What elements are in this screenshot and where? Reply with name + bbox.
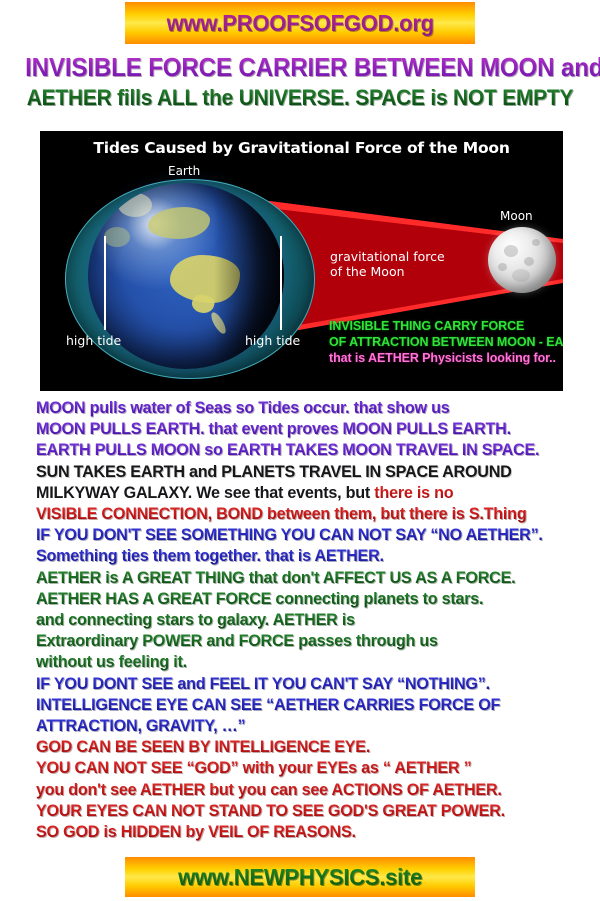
body-line: AETHER HAS A GREAT FORCE connecting plan…: [36, 589, 595, 610]
body-line: VISIBLE CONNECTION, BOND between them, b…: [36, 504, 595, 525]
tide-pointer-left: [104, 236, 106, 330]
body-line: you don't see AETHER but you can see ACT…: [36, 780, 595, 801]
moon-crater-icon: [532, 239, 540, 246]
high-tide-label-right: high tide: [245, 333, 300, 348]
moon-globe: [488, 227, 556, 293]
gravitational-force-label-line1: gravitational force: [330, 249, 470, 264]
overlay-line-3: that is AETHER Physicists looking for..: [329, 350, 563, 366]
tide-pointer-right: [280, 236, 282, 330]
moon-label: Moon: [500, 209, 533, 223]
landmass-europe: [104, 227, 130, 247]
moon-crater-icon: [498, 263, 507, 271]
body-line: SUN TAKES EARTH and PLANETS TRAVEL IN SP…: [36, 462, 595, 483]
body-line: YOU CAN NOT SEE “GOD” with your EYEs as …: [36, 758, 595, 779]
moon-crater-icon: [512, 269, 530, 282]
body-line: YOUR EYES CAN NOT STAND TO SEE GOD'S GRE…: [36, 801, 595, 822]
headline-main-title: INVISIBLE FORCE CARRIER BETWEEN MOON and…: [25, 52, 600, 83]
body-line-segment-red: there is no: [374, 484, 453, 502]
body-line: INTELLIGENCE EYE CAN SEE “AETHER CARRIES…: [36, 695, 595, 716]
body-line: MOON PULLS EARTH. that event proves MOON…: [36, 419, 595, 440]
body-line: IF YOU DON'T SEE SOMETHING YOU CAN NOT S…: [36, 525, 595, 546]
high-tide-label-left: high tide: [66, 333, 121, 348]
tides-diagram-panel: Tides Caused by Gravitational Force of t…: [40, 131, 563, 391]
body-line: MOON pulls water of Seas so Tides occur.…: [36, 398, 595, 419]
headline-subtitle: AETHER fills ALL the UNIVERSE. SPACE is …: [15, 85, 585, 111]
body-line: ATTRACTION, GRAVITY, …”: [36, 716, 595, 737]
body-line: Extraordinary POWER and FORCE passes thr…: [36, 631, 595, 652]
landmass-north: [118, 193, 152, 217]
body-line: and connecting stars to galaxy. AETHER i…: [36, 610, 595, 631]
overlay-line-2: OF ATTRACTION BETWEEN MOON - EARTH: [329, 334, 563, 350]
body-line: SO GOD is HIDDEN by VEIL OF REASONS.: [36, 822, 595, 843]
figure-title: Tides Caused by Gravitational Force of t…: [40, 139, 563, 157]
body-line: EARTH PULLS MOON so EARTH TAKES MOON TRA…: [36, 440, 595, 461]
gravitational-force-label: gravitational force of the Moon: [330, 249, 470, 279]
body-line: without us feeling it.: [36, 652, 595, 673]
bottom-banner-text: www.NEWPHYSICS.site: [178, 857, 422, 897]
earth-label: Earth: [168, 164, 200, 178]
body-line: GOD CAN BE SEEN BY INTELLIGENCE EYE.: [36, 737, 595, 758]
top-banner-text: www.PROOFSOFGOD.org: [166, 2, 433, 44]
body-line: AETHER is A GREAT THING that don't AFFEC…: [36, 568, 595, 589]
moon-crater-icon: [504, 245, 518, 257]
bottom-website-banner[interactable]: www.NEWPHYSICS.site: [125, 857, 475, 897]
body-line-segment-black: MILKYWAY GALAXY. We see that events, but: [36, 484, 374, 502]
aether-overlay-annotation: INVISIBLE THING CARRY FORCE OF ATTRACTIO…: [329, 318, 563, 366]
moon-crater-icon: [524, 257, 534, 266]
top-website-banner[interactable]: www.PROOFSOFGOD.org: [125, 2, 475, 44]
body-line: Something ties them together. that is AE…: [36, 546, 595, 567]
body-line: IF YOU DONT SEE and FEEL IT YOU CAN'T SA…: [36, 674, 595, 695]
headline-block: INVISIBLE FORCE CARRIER BETWEEN MOON and…: [0, 52, 600, 111]
body-text-block: MOON pulls water of Seas so Tides occur.…: [36, 398, 600, 843]
body-line-mixed: MILKYWAY GALAXY. We see that events, but…: [36, 483, 595, 504]
gravitational-force-label-line2: of the Moon: [330, 264, 470, 279]
landmass-asia: [148, 207, 210, 239]
overlay-line-1: INVISIBLE THING CARRY FORCE: [329, 318, 563, 334]
